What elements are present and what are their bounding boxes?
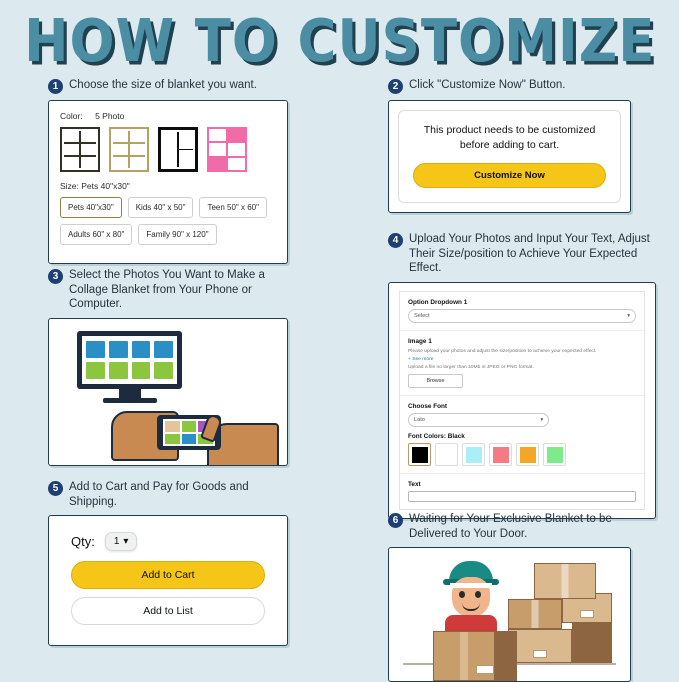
size-row-2: Adults 60" x 80" Family 90" x 120"	[60, 224, 276, 245]
step-6-title: Waiting for Your Exclusive Blanket to be…	[409, 512, 631, 541]
see-more-link[interactable]: + See more	[408, 357, 636, 362]
monitor-photo-grid	[82, 336, 177, 384]
step-1-title: Choose the size of blanket you want.	[69, 78, 257, 93]
font-color-white[interactable]	[435, 443, 458, 466]
step-1-header: 1 Choose the size of blanket you want.	[48, 78, 288, 94]
font-color-cyan[interactable]	[462, 443, 485, 466]
step-3-badge: 3	[48, 269, 63, 284]
color-value: 5 Photo	[95, 111, 124, 121]
step-2-title: Click "Customize Now" Button.	[409, 78, 565, 93]
choose-font-label: Choose Font	[408, 403, 636, 410]
step-6-card	[388, 547, 631, 682]
step-5-title: Add to Cart and Pay for Goods and Shippi…	[69, 480, 288, 509]
delivery-man-illustration	[433, 561, 525, 665]
image-upload-section: Image 1 Please upload your photos and ad…	[400, 331, 644, 396]
chevron-down-icon: ▾	[541, 417, 544, 423]
step-2-badge: 2	[388, 79, 403, 94]
text-input-section: Text	[400, 474, 644, 509]
size-option-teen[interactable]: Teen 50" x 60"	[199, 197, 267, 218]
chevron-down-icon: ▾	[123, 536, 128, 547]
option-dropdown-label: Option Dropdown 1	[408, 299, 636, 306]
step-5-header: 5 Add to Cart and Pay for Goods and Ship…	[48, 480, 288, 509]
swatch-row	[60, 127, 276, 172]
browse-button[interactable]: Browse	[408, 374, 463, 388]
option-dropdown-value: Select	[414, 313, 430, 319]
swatch-option-3[interactable]	[158, 127, 198, 172]
add-to-cart-button[interactable]: Add to Cart	[71, 561, 265, 589]
quantity-row: Qty: 1 ▾	[71, 532, 265, 551]
color-row: Color: 5 Photo	[60, 111, 276, 121]
monitor-neck	[119, 389, 141, 398]
step-4-title: Upload Your Photos and Input Your Text, …	[409, 232, 656, 276]
step-3: 3 Select the Photos You Want to Make a C…	[48, 268, 288, 466]
size-option-pets[interactable]: Pets 40"x30"	[60, 197, 122, 218]
page-title: HOW TO CUSTOMIZE	[24, 12, 655, 71]
swatch-option-2[interactable]	[109, 127, 149, 172]
font-color-black[interactable]	[408, 443, 431, 466]
text-label: Text	[408, 481, 636, 488]
hair-band	[450, 583, 492, 588]
size-option-adults[interactable]: Adults 60" x 80"	[60, 224, 132, 245]
font-color-green[interactable]	[543, 443, 566, 466]
text-input[interactable]	[408, 491, 636, 502]
step-5: 5 Add to Cart and Pay for Goods and Ship…	[48, 480, 288, 646]
customize-now-button[interactable]: Customize Now	[413, 163, 606, 188]
size-row-1: Pets 40"x30" Kids 40" x 50" Teen 50" x 6…	[60, 197, 276, 218]
step-6-badge: 6	[388, 513, 403, 528]
held-box	[433, 631, 517, 681]
choose-font-select[interactable]: Lato ▾	[408, 413, 549, 427]
step-3-card	[48, 318, 288, 466]
step-3-title: Select the Photos You Want to Make a Col…	[69, 268, 288, 312]
color-label: Color:	[60, 111, 83, 121]
choose-font-value: Lato	[414, 417, 425, 423]
size-option-family[interactable]: Family 90" x 120"	[138, 224, 216, 245]
chevron-down-icon: ▾	[627, 313, 630, 319]
customize-notice-box: This product needs to be customized befo…	[398, 110, 621, 203]
option-dropdown-section: Option Dropdown 1 Select ▾	[400, 292, 644, 331]
page-header: HOW TO CUSTOMIZE	[0, 0, 679, 66]
swatch-option-1[interactable]	[60, 127, 100, 172]
customizer-form-panel: Option Dropdown 1 Select ▾ Image 1 Pleas…	[399, 291, 645, 510]
monitor-illustration	[77, 331, 182, 403]
step-2-card: This product needs to be customized befo…	[388, 100, 631, 213]
image-help-text: Please upload your photos and adjust the…	[408, 348, 636, 355]
step-2: 2 Click "Customize Now" Button. This pro…	[388, 78, 631, 213]
step-4-badge: 4	[388, 233, 403, 248]
step-1-card: Color: 5 Photo Size: Pets 40"x30"	[48, 100, 288, 264]
add-to-list-button[interactable]: Add to List	[71, 597, 265, 625]
quantity-select[interactable]: 1 ▾	[105, 532, 138, 551]
step-2-header: 2 Click "Customize Now" Button.	[388, 78, 631, 94]
monitor-base	[103, 398, 157, 403]
step-5-badge: 5	[48, 481, 63, 496]
size-label: Size: Pets 40"x30"	[60, 181, 276, 191]
step-3-header: 3 Select the Photos You Want to Make a C…	[48, 268, 288, 312]
font-section: Choose Font Lato ▾ Font Colors: Black	[400, 396, 644, 474]
step-4-header: 4 Upload Your Photos and Input Your Text…	[388, 232, 656, 276]
font-color-salmon[interactable]	[489, 443, 512, 466]
step-6: 6 Waiting for Your Exclusive Blanket to …	[388, 512, 631, 682]
step-1: 1 Choose the size of blanket you want. C…	[48, 78, 288, 264]
swatch-option-4[interactable]	[207, 127, 247, 172]
steps-grid: 1 Choose the size of blanket you want. C…	[0, 72, 679, 679]
font-color-swatches	[408, 443, 636, 466]
step-6-header: 6 Waiting for Your Exclusive Blanket to …	[388, 512, 631, 541]
step-4-card: Option Dropdown 1 Select ▾ Image 1 Pleas…	[388, 282, 656, 519]
upload-note: Upload a file no larger than 10Mb in JPE…	[408, 364, 636, 371]
quantity-label: Qty:	[71, 534, 95, 549]
option-dropdown-select[interactable]: Select ▾	[408, 309, 636, 323]
monitor-screen	[77, 331, 182, 389]
quantity-value: 1	[114, 536, 120, 547]
image-label: Image 1	[408, 338, 636, 345]
font-color-orange[interactable]	[516, 443, 539, 466]
step-4: 4 Upload Your Photos and Input Your Text…	[388, 232, 656, 519]
customize-notice-text: This product needs to be customized befo…	[413, 123, 606, 153]
font-colors-label: Font Colors: Black	[408, 433, 636, 440]
size-option-kids[interactable]: Kids 40" x 50"	[128, 197, 194, 218]
step-5-card: Qty: 1 ▾ Add to Cart Add to List	[48, 515, 288, 646]
step-1-badge: 1	[48, 79, 63, 94]
